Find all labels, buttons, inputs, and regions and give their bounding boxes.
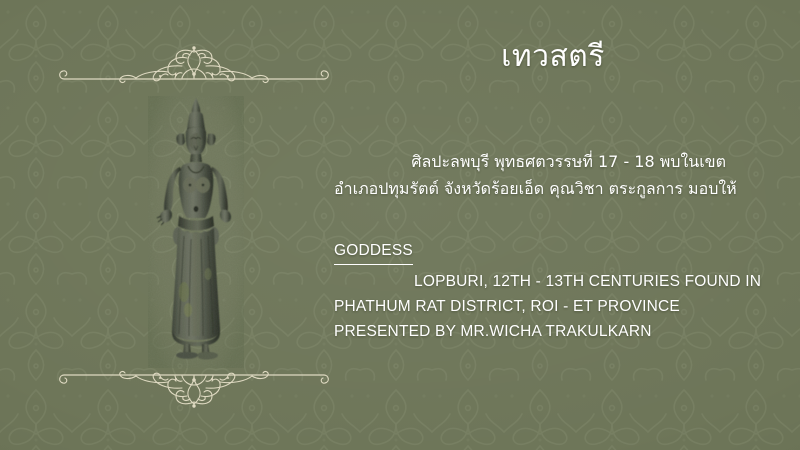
bronze-goddess-statue-image xyxy=(148,96,244,368)
english-caption-line-2: PHATHUM RAT DISTRICT, ROI - ET PROVINCE xyxy=(334,294,754,319)
english-heading: GODDESS xyxy=(334,238,413,265)
english-caption-line-3: PRESENTED BY MR.WICHA TRAKULKARN xyxy=(334,319,754,344)
filigree-flourish-top-icon xyxy=(56,42,332,94)
english-heading-row: GODDESS xyxy=(334,238,754,269)
thai-caption-line-1: ศิลปะลพบุรี พุทธศตวรรษที่ 17 - 18 พบในเข… xyxy=(334,148,726,175)
museum-label-slide: เทวสตรี ศิลปะลพบุรี พุทธศตวรรษที่ 17 - 1… xyxy=(0,0,800,450)
thai-caption-line-2: อำเภอปทุมรัตต์ จังหวัดร้อยเอ็ด คุณวิชา ต… xyxy=(334,175,726,202)
english-caption-line-1: LOPBURI, 12TH - 13TH CENTURIES FOUND IN xyxy=(334,269,754,294)
thai-caption-block: ศิลปะลพบุรี พุทธศตวรรษที่ 17 - 18 พบในเข… xyxy=(334,148,726,202)
english-caption-block: GODDESS LOPBURI, 12TH - 13TH CENTURIES F… xyxy=(334,238,754,344)
page-title: เทวสตรี xyxy=(340,36,766,78)
